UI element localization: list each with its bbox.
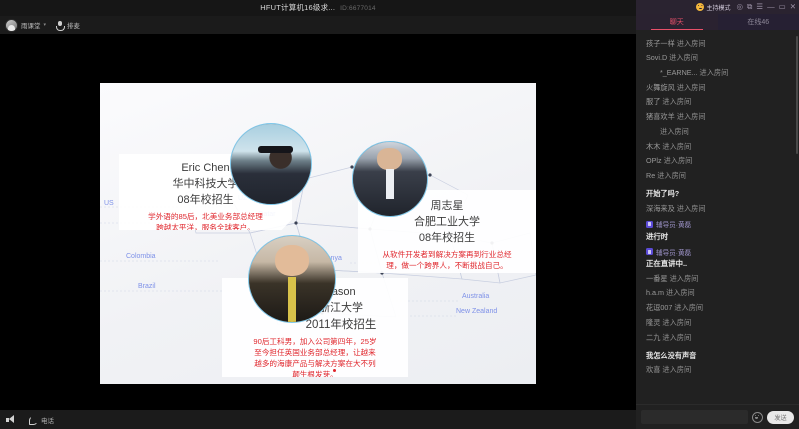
chat-join-message: 深海来及 进入房间 (636, 201, 799, 216)
chat-join-action: 进入房间 (660, 365, 691, 374)
chat-join-action: 进入房间 (668, 274, 699, 283)
phone-button[interactable]: 电话 (28, 415, 54, 425)
chat-join-message: h.a.m 进入房间 (636, 286, 799, 301)
chat-join-action: 进入房间 (675, 39, 706, 48)
chat-own-message: 我怎么没有声音 (636, 345, 799, 363)
staff-badge-icon (646, 248, 653, 255)
close-icon[interactable]: ✕ (790, 3, 796, 11)
chevron-down-icon: ▾ (44, 22, 47, 28)
window-title-text: HFUT计算机16级求... (260, 3, 335, 12)
chat-join-message: 二九 进入房间 (636, 330, 799, 345)
chat-join-action: 进入房间 (660, 97, 691, 106)
chat-user-name: OPlz (646, 156, 662, 165)
chat-join-action: 进入房间 (675, 83, 706, 92)
slide-marker (333, 369, 336, 372)
chat-staff-text: 进行时 (646, 231, 789, 242)
chat-join-action: 进入房间 (662, 156, 693, 165)
emoji-picker-icon[interactable] (752, 412, 763, 423)
chat-user-name: Sovi.D (646, 53, 667, 62)
chat-join-action: 进入房间 (660, 318, 691, 327)
chat-input[interactable] (641, 410, 748, 424)
chat-join-message: Re 进入房间 (636, 168, 799, 183)
chat-user-name: 一番星 (646, 274, 668, 283)
staff-badge-icon (646, 221, 653, 228)
chat-join-action: 进入房间 (675, 204, 706, 213)
chat-join-message: OPlz 进入房间 (636, 154, 799, 169)
tab-online[interactable]: 在线46 (718, 14, 799, 30)
chat-join-action: 进入房间 (660, 333, 691, 342)
chat-staff-name: 辅导员·黄磊 (656, 247, 691, 257)
speaker-icon[interactable] (6, 415, 17, 425)
chat-join-message: *_EARNE... 进入房间 (636, 65, 799, 80)
host-mode-chip[interactable]: 主持模式 (696, 3, 730, 12)
profile-school-2: 合肥工业大学 (358, 215, 536, 231)
profile-desc-2: 从软件开发者到解决方案再到行业总经 理，做一个跨界人，不断挑战自己。 (358, 249, 536, 271)
help-icon[interactable]: ◎ (736, 3, 743, 11)
panel-tabs: 聊天 在线46 (636, 14, 799, 30)
side-panel: 主持模式 ◎ ⧉ ☰ — ▭ ✕ 聊天 在线46 孩子一样 进入房间Sovi.D… (636, 0, 799, 429)
chat-join-action: 进入房间 (672, 303, 703, 312)
map-label-us: US (104, 200, 114, 207)
stage-column: HFUT计算机16级求...ID:6677014 雨课堂 ▾ 排麦 (0, 0, 636, 429)
chat-join-action: 进入房间 (660, 142, 691, 151)
chat-join-action: 进入房间 (664, 288, 695, 297)
chat-join-message: 服了 进入房间 (636, 95, 799, 110)
chat-message-list[interactable]: 孩子一样 进入房间Sovi.D 进入房间*_EARNE... 进入房间火舞旋风 … (636, 30, 799, 404)
chat-join-action: 进入房间 (698, 68, 729, 77)
chat-join-message: 进入房间 (636, 124, 799, 139)
window-title: HFUT计算机16级求...ID:6677014 (0, 2, 636, 13)
chat-user-name: Re (646, 171, 655, 180)
maximize-icon[interactable]: ▭ (779, 3, 786, 11)
send-button[interactable]: 发送 (767, 411, 794, 424)
chat-join-message: 木木 进入房间 (636, 139, 799, 154)
bottom-toolbar: 电话 (0, 410, 636, 429)
chat-scrollbar[interactable] (796, 36, 798, 154)
chat-user-name: 隆灵 (646, 318, 660, 327)
phone-icon (28, 415, 38, 425)
chat-user-name: 欢喜 (646, 365, 660, 374)
mic-queue-button[interactable]: 排麦 (55, 20, 80, 31)
chat-user-name: 火舞旋风 (646, 83, 675, 92)
chat-staff-message: 辅导员·黄磊正在直讲中.. (636, 244, 799, 272)
chat-join-message: 欢喜 进入房间 (636, 363, 799, 378)
map-label-australia: Australia (462, 293, 489, 300)
map-label-new-zealand: New Zealand (456, 308, 497, 315)
chat-join-message: 一番星 进入房间 (636, 271, 799, 286)
chat-user-name: 猪喜欢羊 (646, 112, 675, 121)
video-stage[interactable]: US Saudi Arabia Colombia Brazil Qatar UZ… (0, 34, 636, 410)
chat-user-name: 二九 (646, 333, 660, 342)
chat-own-message: 开始了吗? (636, 183, 799, 201)
chat-join-message: 花逗007 进入房间 (636, 301, 799, 316)
chat-user-name: 花逗007 (646, 303, 672, 312)
tab-chat[interactable]: 聊天 (636, 14, 718, 30)
host-user-name: 雨课堂 (21, 20, 41, 30)
chat-join-message: 猪喜欢羊 进入房间 (636, 110, 799, 125)
portrait-jason (248, 235, 336, 323)
chat-join-action: 进入房间 (667, 53, 698, 62)
minimize-icon[interactable]: — (767, 3, 775, 11)
menu-icon[interactable]: ☰ (756, 3, 763, 11)
map-label-brazil: Brazil (138, 283, 156, 290)
shared-slide: US Saudi Arabia Colombia Brazil Qatar UZ… (100, 83, 536, 384)
microphone-icon (55, 20, 64, 31)
live-class-window: HFUT计算机16级求...ID:6677014 雨课堂 ▾ 排麦 (0, 0, 799, 429)
avatar (5, 19, 18, 32)
mic-queue-label: 排麦 (67, 20, 80, 30)
chat-staff-name: 辅导员·黄磊 (656, 219, 691, 229)
chat-join-message: 孩子一样 进入房间 (636, 36, 799, 51)
chat-user-name: h.a.m (646, 288, 664, 297)
phone-label: 电话 (41, 415, 54, 425)
chat-join-message: 火舞旋风 进入房间 (636, 80, 799, 95)
chat-staff-badge-line: 辅导员·黄磊 (646, 247, 789, 257)
popout-icon[interactable]: ⧉ (747, 3, 752, 11)
chat-join-message: Sovi.D 进入房间 (636, 51, 799, 66)
chat-user-name: 木木 (646, 142, 660, 151)
chat-composer: 发送 (636, 404, 799, 429)
room-id: ID:6677014 (340, 5, 376, 12)
chat-user-name: 深海来及 (646, 204, 675, 213)
chat-user-name: 孩子一样 (646, 39, 675, 48)
chat-join-action: 进入房间 (655, 171, 686, 180)
window-title-bar: HFUT计算机16级求...ID:6677014 (0, 0, 636, 16)
chat-staff-badge-line: 辅导员·黄磊 (646, 219, 789, 229)
portrait-zhou-zhixing (352, 141, 428, 217)
portrait-eric-chen (230, 123, 312, 205)
chat-staff-message: 辅导员·黄磊进行时 (636, 216, 799, 244)
host-toolbar: 雨课堂 ▾ 排麦 (0, 16, 636, 34)
chat-user-name: *_EARNE... (660, 68, 698, 77)
chat-join-action: 进入房间 (660, 127, 689, 136)
chat-staff-text: 正在直讲中.. (646, 258, 789, 269)
host-mode-label: 主持模式 (706, 3, 730, 12)
smiley-icon (696, 3, 704, 11)
chat-join-message: 隆灵 进入房间 (636, 315, 799, 330)
map-label-colombia: Colombia (126, 253, 156, 260)
profile-year-2: 08年校招生 (358, 231, 536, 247)
profile-desc-3: 90后工科男，加入公司第四年，25岁 至今担任英国业务部总经理，让越来 越多的海… (222, 336, 408, 380)
panel-title-bar: 主持模式 ◎ ⧉ ☰ — ▭ ✕ (636, 0, 799, 14)
chat-user-name: 服了 (646, 97, 660, 106)
profile-desc-1: 学外语的85后，北美业务部总经理 跨越太平洋，服务全球客户。 (119, 211, 292, 233)
host-user-chip[interactable]: 雨课堂 ▾ (5, 19, 46, 32)
chat-join-action: 进入房间 (675, 112, 706, 121)
